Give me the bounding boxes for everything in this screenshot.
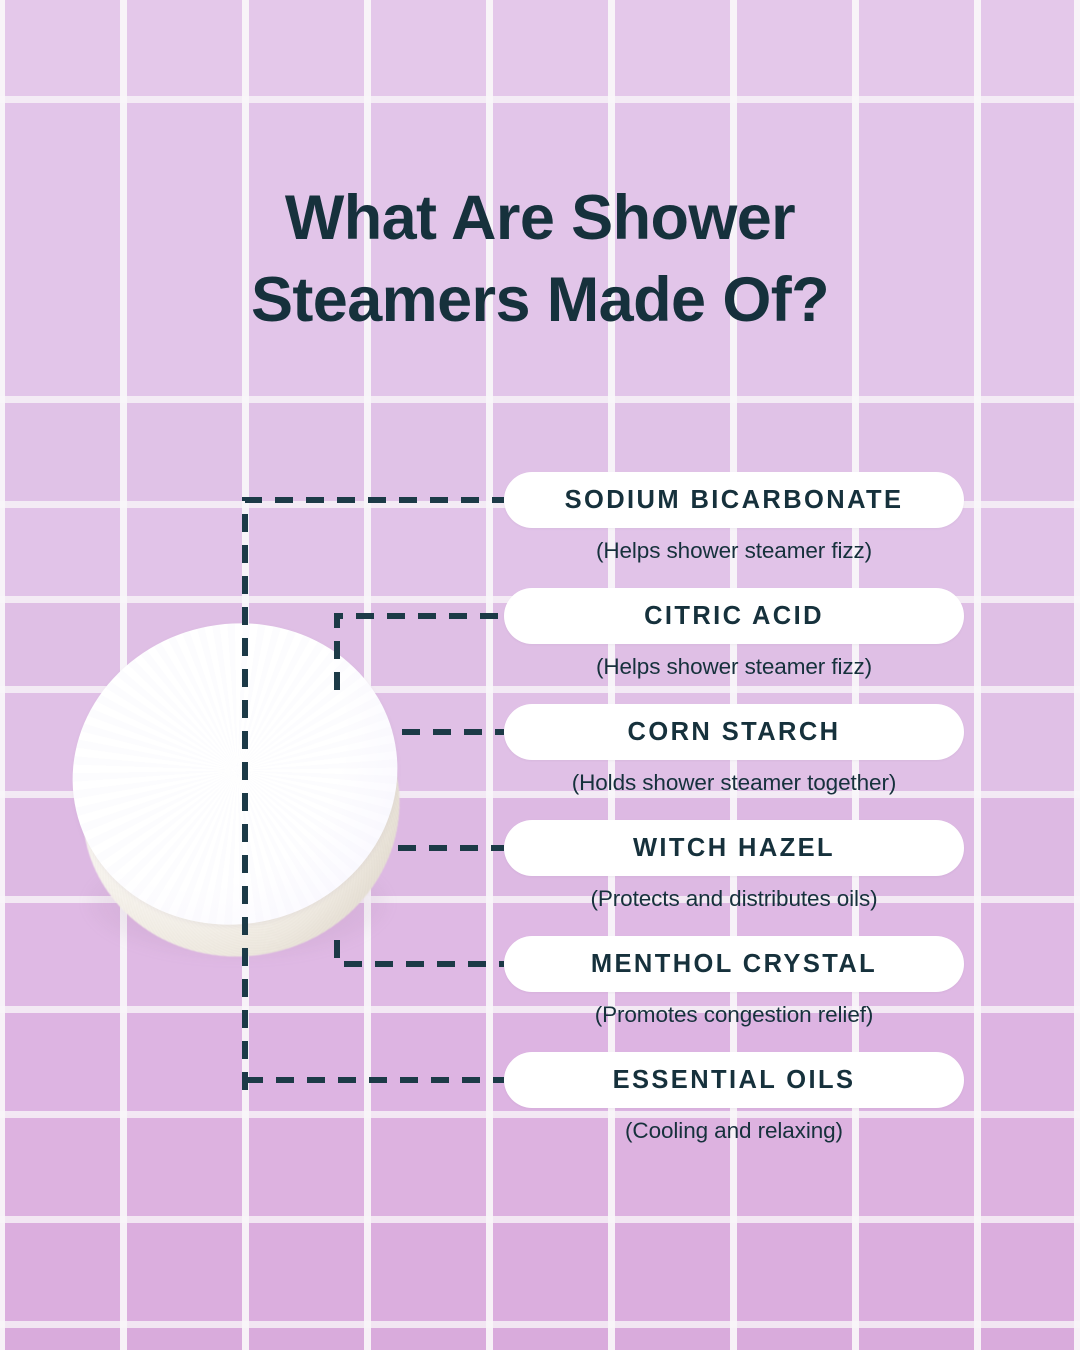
grout-line-h-10 (0, 1216, 1080, 1223)
ingredient-name: CORN STARCH (628, 718, 841, 747)
ingredient-pill-menthol-crystal[interactable]: MENTHOL CRYSTAL (504, 936, 964, 992)
ingredient-description: (Holds shower steamer together) (504, 770, 964, 796)
ingredient-name: SODIUM BICARBONATE (565, 486, 904, 515)
infographic-poster: What Are Shower Steamers Made Of? SODIUM… (0, 0, 1080, 1350)
shower-steamer-tablet (72, 612, 412, 962)
title-line-1: What Are Shower (120, 178, 960, 260)
ingredient-row-essential-oils: ESSENTIAL OILS (Cooling and relaxing) (504, 1052, 964, 1144)
ingredient-description: (Helps shower steamer fizz) (504, 538, 964, 564)
ingredient-row-citric-acid: CITRIC ACID (Helps shower steamer fizz) (504, 588, 964, 680)
grout-line-h-1 (0, 96, 1080, 103)
ingredient-description: (Promotes congestion relief) (504, 1002, 964, 1028)
title-line-2: Steamers Made Of? (120, 260, 960, 342)
grout-line-h-2 (0, 396, 1080, 403)
ingredient-row-corn-starch: CORN STARCH (Holds shower steamer togeth… (504, 704, 964, 796)
page-title: What Are Shower Steamers Made Of? (0, 178, 1080, 342)
ingredient-description: (Helps shower steamer fizz) (504, 654, 964, 680)
ingredient-pill-sodium-bicarbonate[interactable]: SODIUM BICARBONATE (504, 472, 964, 528)
grout-line-h-11 (0, 1321, 1080, 1328)
ingredient-row-sodium-bicarbonate: SODIUM BICARBONATE (Helps shower steamer… (504, 472, 964, 564)
ingredient-name: MENTHOL CRYSTAL (591, 950, 877, 979)
ingredient-pill-corn-starch[interactable]: CORN STARCH (504, 704, 964, 760)
ingredient-row-witch-hazel: WITCH HAZEL (Protects and distributes oi… (504, 820, 964, 912)
ingredient-name: ESSENTIAL OILS (613, 1066, 856, 1095)
ingredient-pill-citric-acid[interactable]: CITRIC ACID (504, 588, 964, 644)
ingredient-pill-essential-oils[interactable]: ESSENTIAL OILS (504, 1052, 964, 1108)
ingredient-name: CITRIC ACID (644, 602, 824, 631)
ingredient-description: (Cooling and relaxing) (504, 1118, 964, 1144)
ingredient-row-menthol-crystal: MENTHOL CRYSTAL (Promotes congestion rel… (504, 936, 964, 1028)
ingredient-name: WITCH HAZEL (633, 834, 835, 863)
ingredient-pill-witch-hazel[interactable]: WITCH HAZEL (504, 820, 964, 876)
ingredient-description: (Protects and distributes oils) (504, 886, 964, 912)
